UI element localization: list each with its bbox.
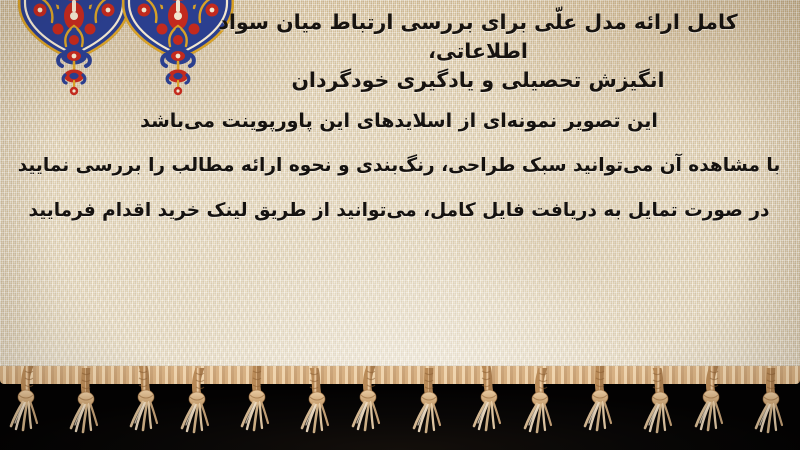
slide-canvas: کامل ارائه مدل علّی برای بررسی ارتباط می… <box>0 0 800 450</box>
fringe-tassel-icon <box>292 368 336 450</box>
fringe-tassel-icon <box>64 368 108 450</box>
fringe-tassel-icon <box>578 366 622 450</box>
slide-body: این تصویر نمونه‌ای از اسلایدهای این پاور… <box>16 112 782 220</box>
fringe-tassel-icon <box>349 366 393 450</box>
fringe-tassel-icon <box>749 368 793 450</box>
slide-title-line-1: کامل ارائه مدل علّی برای بررسی ارتباط می… <box>178 8 778 66</box>
slide-body-line-2: با مشاهده آن می‌توانید سبک طراحی، رنگ‌بن… <box>16 157 782 176</box>
fringe-tassel-icon <box>121 366 165 450</box>
fringe-tassel-icon <box>692 366 736 450</box>
slide-body-line-3: در صورت تمایل به دریافت فایل کامل، می‌تو… <box>16 202 782 221</box>
fringe-tassel-icon <box>464 366 508 450</box>
slide-title-line-2: انگیزش تحصیلی و یادگیری خودگردان <box>178 66 778 95</box>
fringe-tassel-icon <box>178 368 222 450</box>
fringe-tassel-icon <box>635 368 679 450</box>
fringe-tassel-icon <box>7 366 51 450</box>
carpet-fringe <box>0 364 800 450</box>
slide-body-line-1: این تصویر نمونه‌ای از اسلایدهای این پاور… <box>16 112 782 131</box>
fringe-tassel-icon <box>407 368 451 450</box>
fringe-tassel-icon <box>521 368 565 450</box>
slide-title: کامل ارائه مدل علّی برای بررسی ارتباط می… <box>178 8 778 95</box>
fringe-tassel-icon <box>235 366 279 450</box>
